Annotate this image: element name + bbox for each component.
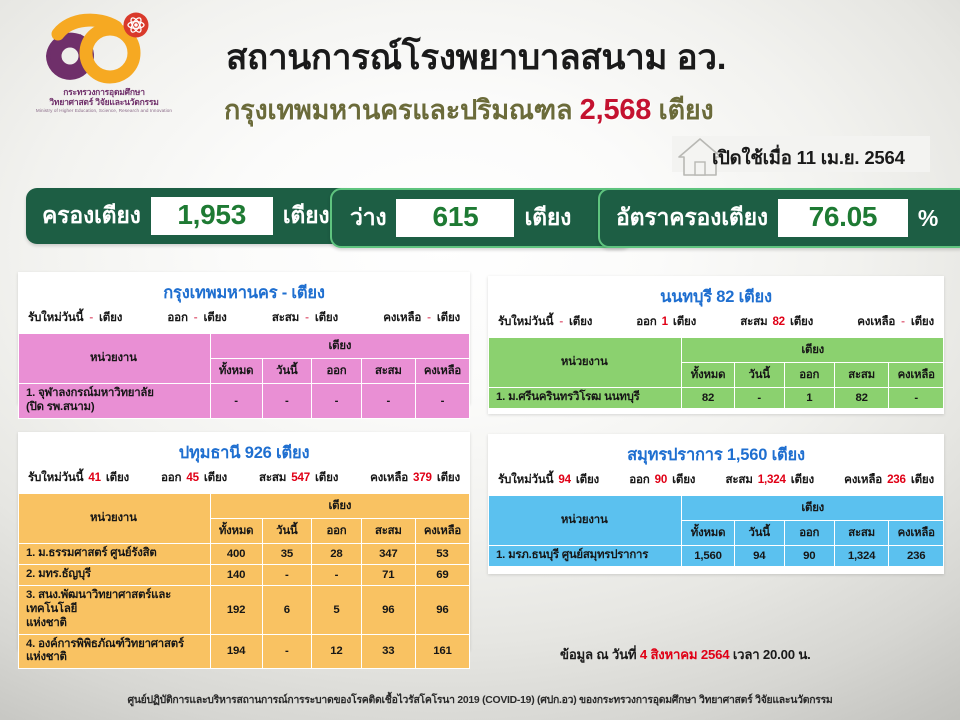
data-timestamp-prefix: ข้อมูล ณ วันที่ [560, 647, 636, 662]
row-discharged: 1 [784, 388, 834, 409]
table-row: 2. มทร.ธัญบุรี140--7169 [19, 564, 470, 585]
panel-title: สมุทรปราการ 1,560 เตียง [488, 442, 944, 468]
row-discharged: 12 [312, 634, 362, 669]
row-remaining: 161 [415, 634, 469, 669]
row-remaining: 96 [415, 585, 469, 634]
th-org: หน่วยงาน [19, 334, 211, 384]
row-total: 1,560 [682, 546, 734, 567]
summary-new-today: รับใหม่วันนี้ - เตียง [498, 313, 592, 331]
table-header-row-1: หน่วยงานเตียง [489, 496, 944, 521]
summary-out: ออก - เตียง [167, 309, 226, 327]
row-today: - [734, 388, 784, 409]
row-cumulative: - [361, 384, 415, 419]
table-row: 1. มรภ.ธนบุรี ศูนย์สมุทรปราการ1,56094901… [489, 546, 944, 567]
row-today: 94 [734, 546, 784, 567]
panel-nonthaburi: นนทบุรี 82 เตียงรับใหม่วันนี้ - เตียงออก… [488, 276, 944, 414]
th-discharged: ออก [784, 521, 834, 546]
summary-new-today: รับใหม่วันนี้ 41 เตียง [28, 469, 129, 487]
panel-header: สมุทรปราการ 1,560 เตียงรับใหม่วันนี้ 94 … [488, 434, 944, 495]
summary-remaining: คงเหลือ 379 เตียง [370, 469, 460, 487]
th-today: วันนี้ [262, 519, 312, 544]
stat-vacant: ว่าง 615 เตียง [330, 188, 632, 248]
summary-out: ออก 45 เตียง [161, 469, 227, 487]
panel-summary: รับใหม่วันนี้ 94 เตียงออก 90 เตียงสะสม 1… [488, 471, 944, 495]
th-org: หน่วยงาน [489, 338, 682, 388]
dashboard-root: กระทรวงการอุดมศึกษา วิทยาศาสตร์ วิจัยและ… [0, 0, 960, 720]
row-discharged: - [312, 564, 362, 585]
th-today: วันนี้ [734, 521, 784, 546]
row-remaining: - [415, 384, 469, 419]
th-remaining: คงเหลือ [889, 521, 944, 546]
th-org: หน่วยงาน [19, 494, 211, 544]
row-cumulative: 71 [361, 564, 415, 585]
row-org-name: 1. ม.ศรีนครินทรวิโรฒ นนทบุรี [489, 388, 682, 409]
th-beds-group: เตียง [682, 496, 944, 521]
stat-occupied-unit: เตียง [283, 198, 330, 234]
subtitle-region: กรุงเทพมหานครและปริมณฑล [224, 95, 572, 125]
row-discharged: 28 [312, 544, 362, 565]
table-row: 4. องค์การพิพิธภัณฑ์วิทยาศาสตร์แห่งชาติ1… [19, 634, 470, 669]
th-cumulative: สะสม [361, 359, 415, 384]
table-header-row-1: หน่วยงานเตียง [489, 338, 944, 363]
row-org-name: 1. มรภ.ธนบุรี ศูนย์สมุทรปราการ [489, 546, 682, 567]
table-row: 1. ม.ศรีนครินทรวิโรฒ นนทบุรี82-182- [489, 388, 944, 409]
row-total: 400 [210, 544, 262, 565]
row-cumulative: 82 [834, 388, 889, 409]
th-discharged: ออก [312, 519, 362, 544]
panel-summary: รับใหม่วันนี้ - เตียงออก - เตียงสะสม - เ… [18, 309, 470, 333]
stat-rate-value: 76.05 [778, 199, 908, 236]
th-remaining: คงเหลือ [889, 363, 944, 388]
row-org-name: 1. ม.ธรรมศาสตร์ ศูนย์รังสิต [19, 544, 211, 565]
stat-vacant-unit: เตียง [524, 200, 571, 236]
row-discharged: - [312, 384, 362, 419]
summary-new-today: รับใหม่วันนี้ 94 เตียง [498, 471, 599, 489]
row-total: - [210, 384, 262, 419]
th-discharged: ออก [784, 363, 834, 388]
table-row: 1. จุฬาลงกรณ์มหาวิทยาลัย(ปิด รพ.สนาม)---… [19, 384, 470, 419]
row-remaining: 69 [415, 564, 469, 585]
beds-table: หน่วยงานเตียงทั้งหมดวันนี้ออกสะสมคงเหลือ… [488, 337, 944, 409]
subtitle-total-beds: 2,568 [580, 94, 652, 126]
panel-bangkok: กรุงเทพมหานคร - เตียงรับใหม่วันนี้ - เตี… [18, 272, 470, 404]
table-row: 3. สนง.พัฒนาวิทยาศาสตร์และเทคโนโลยีแห่งช… [19, 585, 470, 634]
row-org-name: 3. สนง.พัฒนาวิทยาศาสตร์และเทคโนโลยีแห่งช… [19, 585, 211, 634]
footer-note: ศูนย์ปฏิบัติการและบริหารสถานการณ์การระบา… [0, 691, 960, 708]
th-cumulative: สะสม [834, 363, 889, 388]
th-org: หน่วยงาน [489, 496, 682, 546]
row-total: 140 [210, 564, 262, 585]
th-total: ทั้งหมด [682, 363, 734, 388]
row-total: 192 [210, 585, 262, 634]
row-cumulative: 96 [361, 585, 415, 634]
page-title: สถานการณ์โรงพยาบาลสนาม อว. [226, 30, 726, 85]
stat-vacant-value: 615 [396, 199, 514, 236]
data-timestamp-date: 4 สิงหาคม 2564 [640, 647, 730, 662]
row-org-name: 1. จุฬาลงกรณ์มหาวิทยาลัย(ปิด รพ.สนาม) [19, 384, 211, 419]
row-discharged: 90 [784, 546, 834, 567]
row-today: - [262, 384, 312, 419]
stat-occupied-label: ครองเตียง [42, 198, 141, 234]
th-beds-group: เตียง [210, 334, 469, 359]
row-today: 6 [262, 585, 312, 634]
th-total: ทั้งหมด [210, 359, 262, 384]
panel-samutprakan: สมุทรปราการ 1,560 เตียงรับใหม่วันนี้ 94 … [488, 434, 944, 574]
table-header-row-1: หน่วยงานเตียง [19, 494, 470, 519]
table-row: 1. ม.ธรรมศาสตร์ ศูนย์รังสิต400352834753 [19, 544, 470, 565]
th-today: วันนี้ [262, 359, 312, 384]
panel-summary: รับใหม่วันนี้ 41 เตียงออก 45 เตียงสะสม 5… [18, 469, 470, 493]
row-org-name: 4. องค์การพิพิธภัณฑ์วิทยาศาสตร์แห่งชาติ [19, 634, 211, 669]
row-remaining: 53 [415, 544, 469, 565]
beds-table: หน่วยงานเตียงทั้งหมดวันนี้ออกสะสมคงเหลือ… [18, 493, 470, 669]
row-today: - [262, 564, 312, 585]
summary-new-today: รับใหม่วันนี้ - เตียง [28, 309, 122, 327]
th-remaining: คงเหลือ [415, 519, 469, 544]
th-total: ทั้งหมด [682, 521, 734, 546]
panel-title: กรุงเทพมหานคร - เตียง [18, 280, 470, 306]
row-total: 82 [682, 388, 734, 409]
summary-remaining: คงเหลือ 236 เตียง [844, 471, 934, 489]
logo-english-line: Ministry of Higher Education, Science, R… [24, 108, 184, 113]
subtitle-beds-unit: เตียง [659, 95, 714, 125]
panel-header: ปทุมธานี 926 เตียงรับใหม่วันนี้ 41 เตียง… [18, 432, 470, 493]
panel-header: นนทบุรี 82 เตียงรับใหม่วันนี้ - เตียงออก… [488, 276, 944, 337]
row-cumulative: 33 [361, 634, 415, 669]
data-timestamp-suffix: เวลา 20.00 น. [733, 647, 811, 662]
open-since-label: เปิดใช้เมื่อ 11 เม.ย. 2564 [712, 144, 905, 173]
stat-rate-label: อัตราครองเตียง [616, 200, 768, 236]
beds-table: หน่วยงานเตียงทั้งหมดวันนี้ออกสะสมคงเหลือ… [488, 495, 944, 567]
th-beds-group: เตียง [210, 494, 469, 519]
th-remaining: คงเหลือ [415, 359, 469, 384]
stat-occupancy-rate: อัตราครองเตียง 76.05 % [598, 188, 960, 248]
summary-cumulative: สะสม - เตียง [272, 309, 338, 327]
summary-cumulative: สะสม 1,324 เตียง [725, 471, 813, 489]
row-total: 194 [210, 634, 262, 669]
th-cumulative: สะสม [834, 521, 889, 546]
panel-title: นนทบุรี 82 เตียง [488, 284, 944, 310]
summary-cumulative: สะสม 82 เตียง [740, 313, 813, 331]
logo-60-mark [32, 12, 152, 90]
row-discharged: 5 [312, 585, 362, 634]
stat-occupied-value: 1,953 [151, 197, 273, 234]
summary-out: ออก 1 เตียง [636, 313, 696, 331]
th-total: ทั้งหมด [210, 519, 262, 544]
row-remaining: 236 [889, 546, 944, 567]
row-today: - [262, 634, 312, 669]
stat-rate-unit: % [918, 205, 938, 232]
row-cumulative: 1,324 [834, 546, 889, 567]
table-header-row-1: หน่วยงานเตียง [19, 334, 470, 359]
row-today: 35 [262, 544, 312, 565]
row-remaining: - [889, 388, 944, 409]
data-timestamp: ข้อมูล ณ วันที่ 4 สิงหาคม 2564 เวลา 20.0… [560, 644, 811, 665]
summary-cumulative: สะสม 547 เตียง [259, 469, 338, 487]
th-discharged: ออก [312, 359, 362, 384]
th-beds-group: เตียง [682, 338, 944, 363]
logo-thai-line-2: วิทยาศาสตร์ วิจัยและนวัตกรรม [24, 98, 184, 108]
panel-header: กรุงเทพมหานคร - เตียงรับใหม่วันนี้ - เตี… [18, 272, 470, 333]
beds-table: หน่วยงานเตียงทั้งหมดวันนี้ออกสะสมคงเหลือ… [18, 333, 470, 419]
page-subtitle: กรุงเทพมหานครและปริมณฑล 2,568 เตียง [224, 88, 714, 131]
panel-pathumthani: ปทุมธานี 926 เตียงรับใหม่วันนี้ 41 เตียง… [18, 432, 470, 650]
panel-summary: รับใหม่วันนี้ - เตียงออก 1 เตียงสะสม 82 … [488, 313, 944, 337]
summary-remaining: คงเหลือ - เตียง [857, 313, 934, 331]
summary-out: ออก 90 เตียง [629, 471, 695, 489]
row-cumulative: 347 [361, 544, 415, 565]
stat-vacant-label: ว่าง [350, 200, 386, 236]
panel-title: ปทุมธานี 926 เตียง [18, 440, 470, 466]
summary-remaining: คงเหลือ - เตียง [383, 309, 460, 327]
ministry-logo: กระทรวงการอุดมศึกษา วิทยาศาสตร์ วิจัยและ… [24, 8, 184, 126]
th-today: วันนี้ [734, 363, 784, 388]
row-org-name: 2. มทร.ธัญบุรี [19, 564, 211, 585]
stat-occupied: ครองเตียง 1,953 เตียง [26, 188, 356, 244]
th-cumulative: สะสม [361, 519, 415, 544]
